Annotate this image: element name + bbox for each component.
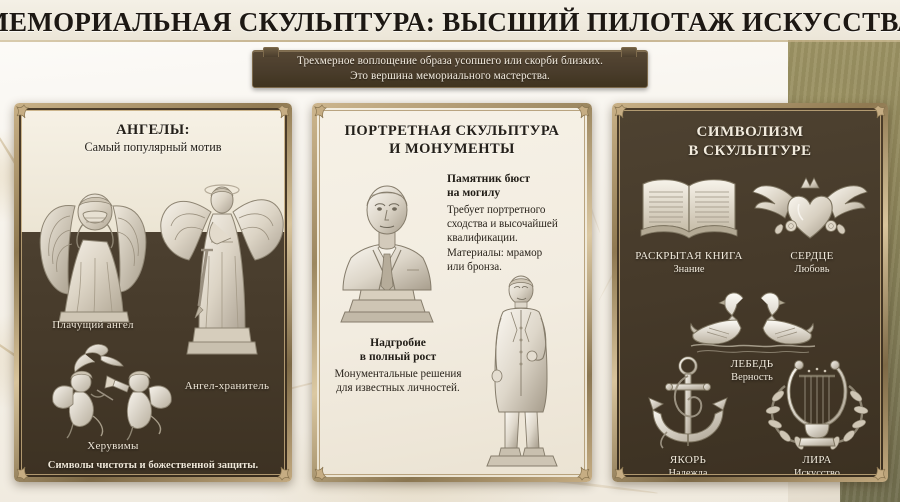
panel-angels-title: АНГЕЛЫ: xyxy=(21,122,285,139)
page-header: МЕМОРИАЛЬНАЯ СКУЛЬПТУРА: ВЫСШИЙ ПИЛОТАЖ … xyxy=(0,0,900,44)
panel-portrait-sculpture[interactable]: ПОРТРЕТНАЯ СКУЛЬПТУРА И МОНУМЕНТЫ xyxy=(312,103,592,482)
panel-portrait-title-line-1: ПОРТРЕТНАЯ СКУЛЬПТУРА xyxy=(319,123,585,140)
caption-guardian-angel: Ангел-хранитель xyxy=(165,380,285,393)
full-length-body-line-2: для известных личностей. xyxy=(327,381,469,395)
panel-body: СИМВОЛИЗМ В СКУЛЬПТУРЕ РАС xyxy=(619,110,881,475)
lyre-symbol-icon xyxy=(761,350,873,454)
caption-lyre: ЛИРА Искусство xyxy=(761,454,873,475)
panel-symbols-title-line-2: В СКУЛЬПТУРЕ xyxy=(619,143,881,160)
caption-open-book: РАСКРЫТАЯ КНИГА Знание xyxy=(627,250,751,276)
subtitle-line-2: Это вершина мемориального мастерства. xyxy=(350,69,550,84)
panel-angels-footer: Символы чистоты и божественной защиты. xyxy=(21,460,285,471)
portrait-bust-statue-icon xyxy=(331,166,443,326)
winged-heart-symbol-icon xyxy=(751,168,869,246)
bust-body-line-2: сходства и высочайшей xyxy=(447,217,583,231)
weeping-angel-statue-icon xyxy=(35,162,153,330)
cherubs-statue-icon xyxy=(47,336,179,442)
panel-symbols-title-line-1: СИМВОЛИЗМ xyxy=(619,124,881,141)
panel-portrait-title-line-2: И МОНУМЕНТЫ xyxy=(319,141,585,158)
bust-heading-line-2: на могилу xyxy=(447,186,583,200)
caption-anchor: ЯКОРЬ Надежда xyxy=(633,454,743,475)
anchor-symbol-icon xyxy=(645,354,731,452)
panel-body: АНГЕЛЫ: Самый популярный мотив xyxy=(21,110,285,475)
full-length-body-line-1: Монументальные решения xyxy=(327,367,469,381)
bust-body-line-4: Материалы: мрамор xyxy=(447,246,583,260)
full-length-statue-icon xyxy=(467,272,575,472)
subtitle-plaque: Трехмерное воплощение образа усопшего ил… xyxy=(252,50,648,88)
subtitle-line-1: Трехмерное воплощение образа усопшего ил… xyxy=(297,54,603,69)
full-length-heading-line-1: Надгробие xyxy=(327,336,469,350)
panel-angels-subtitle: Самый популярный мотив xyxy=(21,140,285,155)
bust-body-line-1: Требует портретного xyxy=(447,203,583,217)
caption-heart: СЕРДЦЕ Любовь xyxy=(753,250,871,276)
panel-angels[interactable]: АНГЕЛЫ: Самый популярный мотив xyxy=(14,103,292,482)
caption-weeping-angel: Плачущий ангел xyxy=(33,319,153,332)
bust-description-block: Памятник бюст на могилу Требует портретн… xyxy=(447,172,583,274)
full-length-description-block: Надгробие в полный рост Монументальные р… xyxy=(327,336,469,395)
caption-cherubs: Херувимы xyxy=(47,440,179,453)
panel-body: ПОРТРЕТНАЯ СКУЛЬПТУРА И МОНУМЕНТЫ xyxy=(319,110,585,475)
panel-symbolism[interactable]: СИМВОЛИЗМ В СКУЛЬПТУРЕ РАС xyxy=(612,103,888,482)
bust-heading-line-1: Памятник бюст xyxy=(447,172,583,186)
swans-symbol-icon xyxy=(685,286,819,358)
bust-body-line-3: квалификации. xyxy=(447,231,583,245)
page-title: МЕМОРИАЛЬНАЯ СКУЛЬПТУРА: ВЫСШИЙ ПИЛОТАЖ … xyxy=(0,7,900,38)
full-length-heading-line-2: в полный рост xyxy=(327,350,469,364)
open-book-symbol-icon xyxy=(637,172,741,244)
